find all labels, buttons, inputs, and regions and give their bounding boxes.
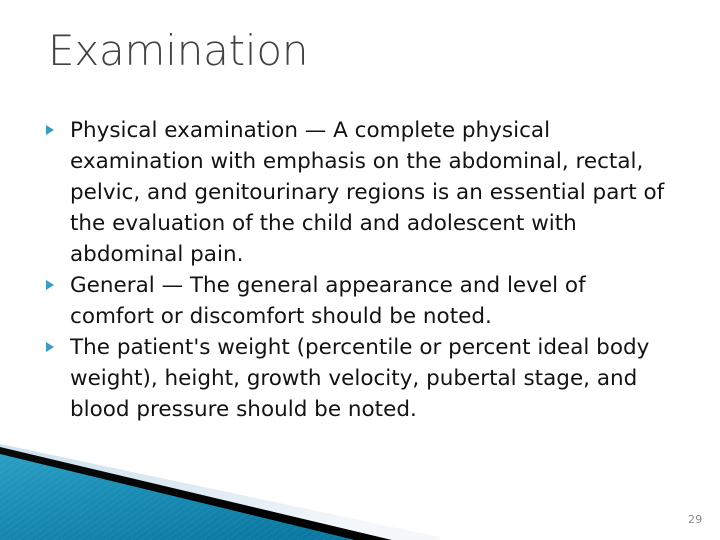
list-item: Physical examination — A complete physic… <box>40 115 670 270</box>
list-item-text: General — The general appearance and lev… <box>70 273 586 329</box>
diagonal-banner-decoration <box>0 430 720 540</box>
list-item: General — The general appearance and lev… <box>40 270 670 332</box>
triangle-right-icon <box>46 125 54 135</box>
bullet-list: Physical examination — A complete physic… <box>40 115 670 425</box>
triangle-right-icon <box>46 280 54 290</box>
triangle-right-icon <box>46 342 54 352</box>
presentation-slide: Examination Physical examination — A com… <box>0 0 720 540</box>
slide-number: 29 <box>688 513 703 526</box>
list-item-text: Physical examination — A complete physic… <box>70 118 664 267</box>
page-title: Examination <box>48 27 308 75</box>
list-item: The patient's weight (percentile or perc… <box>40 332 670 425</box>
list-item-text: The patient's weight (percentile or perc… <box>70 335 649 422</box>
